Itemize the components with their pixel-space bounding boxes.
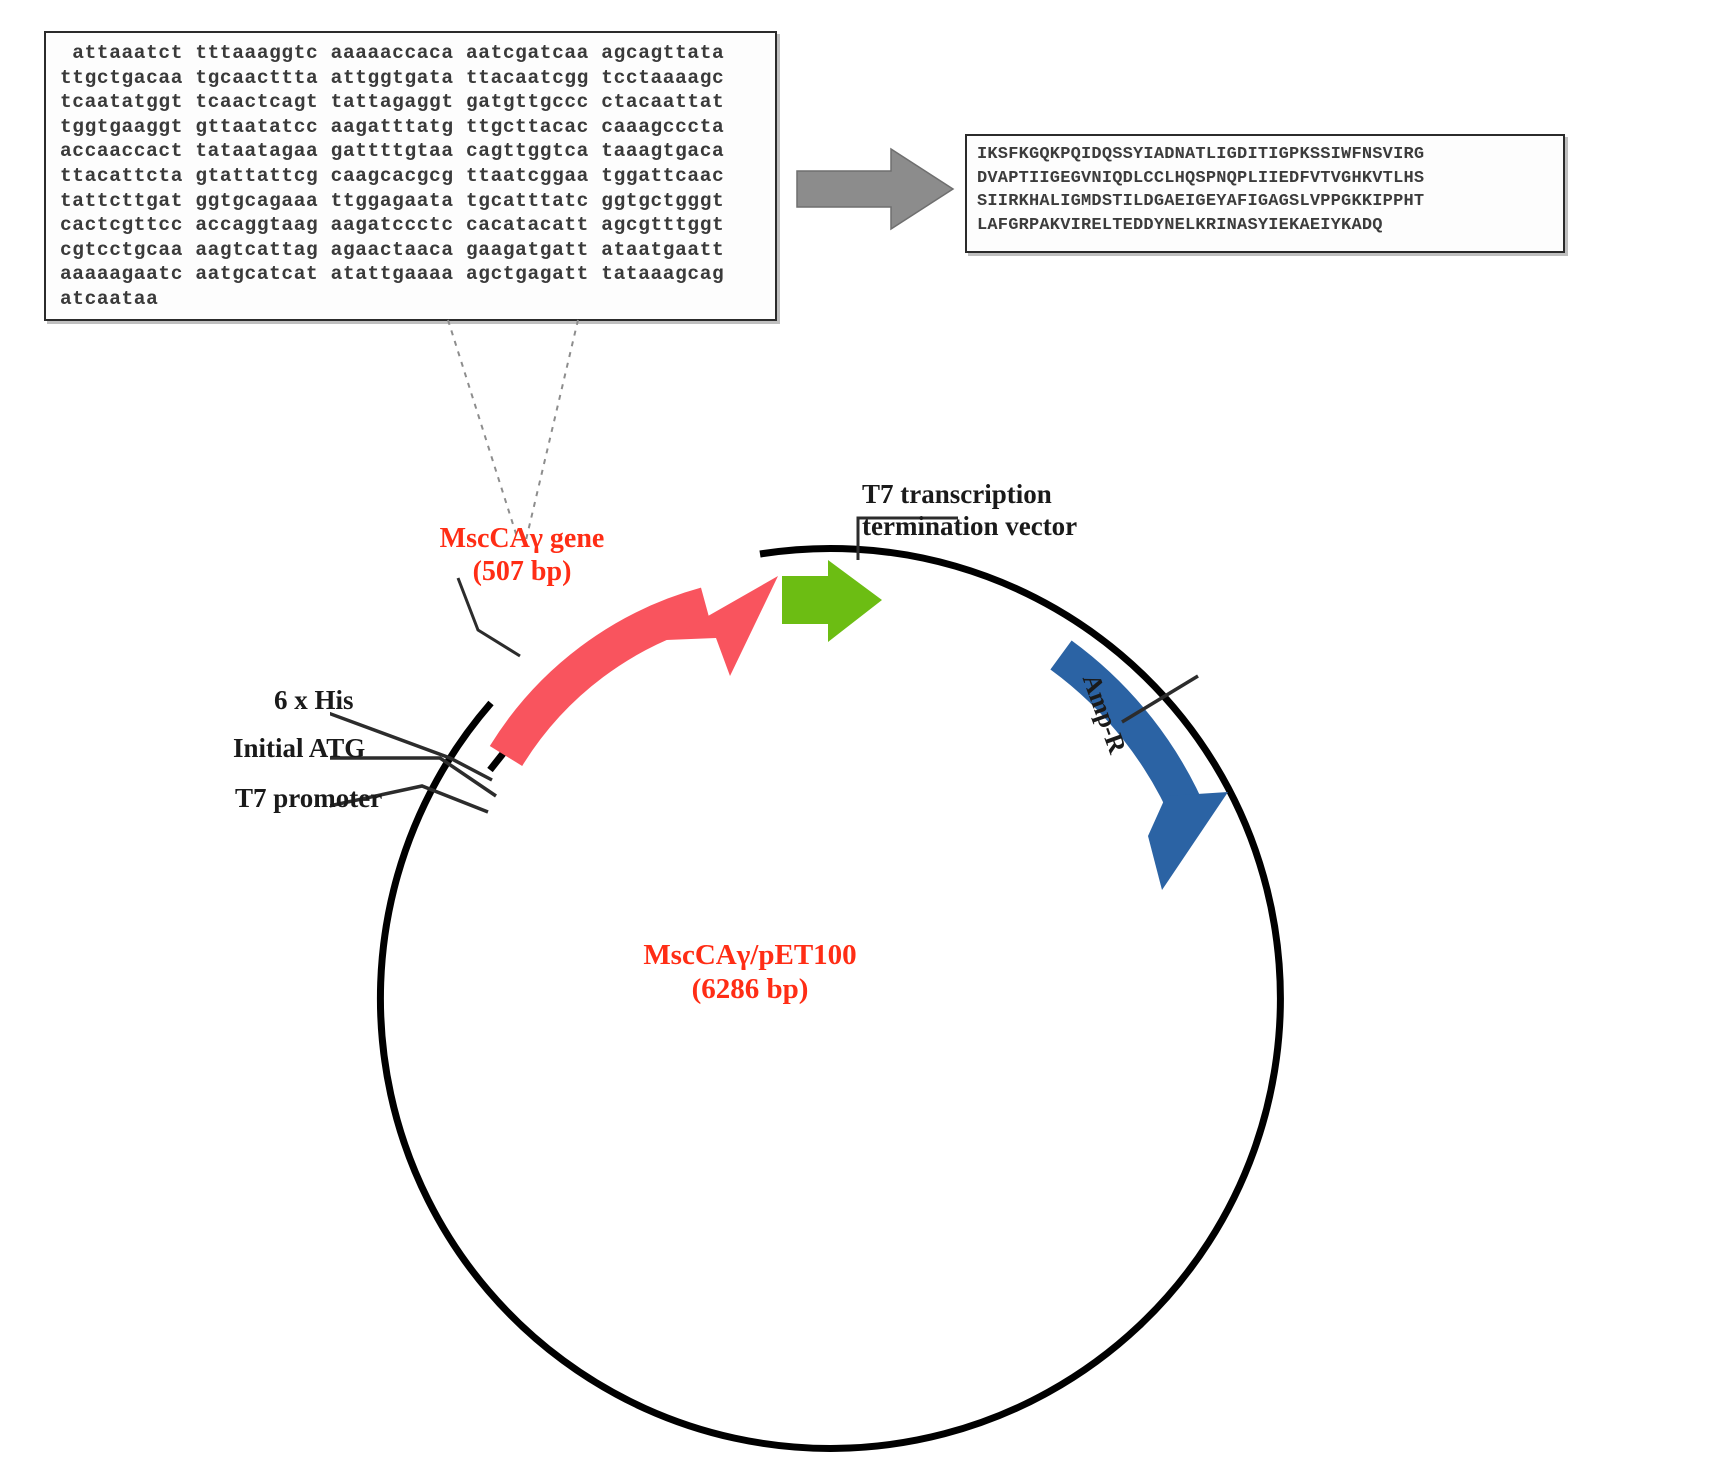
label-plasmid-name-line2: (6286 bp): [600, 972, 900, 1006]
dna-sequence-text: attaaatct tttaaaggtc aaaaaccaca aatcgatc…: [60, 41, 765, 312]
t7-terminator-arrow: [782, 560, 882, 642]
label-t7-terminator: T7 transcription termination vector: [862, 479, 1077, 543]
dna-sequence-box: attaaatct tttaaaggtc aaaaaccaca aatcgatc…: [44, 31, 777, 321]
label-t7-terminator-line1: T7 transcription: [862, 479, 1077, 511]
label-plasmid-name: MscCAγ/pET100 (6286 bp): [600, 938, 900, 1006]
translation-arrow: [795, 145, 955, 233]
figure-canvas: attaaatct tttaaaggtc aaaaaccaca aatcgatc…: [0, 0, 1715, 1475]
label-plasmid-name-line1: MscCAγ/pET100: [600, 938, 900, 972]
label-t7-promoter: T7 promoter: [235, 783, 382, 815]
leader-msccag-gene: [458, 578, 520, 656]
msccag-gene-arrow: [506, 576, 778, 756]
t7-terminator-shape: [782, 560, 882, 642]
protein-sequence-text: IKSFKGQKPQIDQSSYIADNATLIGDITIGPKSSIWFNSV…: [977, 143, 1555, 237]
label-six-his: 6 x His: [274, 685, 354, 717]
label-initial-atg: Initial ATG: [233, 733, 365, 765]
label-msccag-gene: MscCAγ gene (507 bp): [432, 522, 612, 588]
label-msccag-gene-line2: (507 bp): [432, 555, 612, 588]
msccag-gene-body: [506, 606, 706, 756]
label-msccag-gene-line1: MscCAγ gene: [432, 522, 612, 555]
label-t7-terminator-line2: termination vector: [862, 511, 1077, 543]
translation-arrow-shape: [797, 149, 953, 229]
protein-sequence-box: IKSFKGQKPQIDQSSYIADNATLIGDITIGPKSSIWFNSV…: [965, 134, 1565, 253]
amp-r-head: [1148, 792, 1228, 890]
